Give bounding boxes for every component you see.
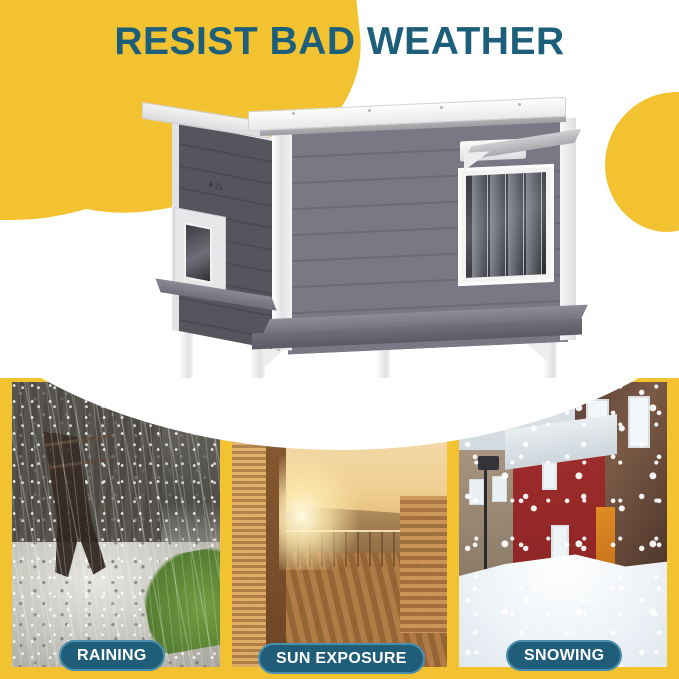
door-flap-strip	[472, 172, 488, 278]
label-sun-exposure[interactable]: SUN EXPOSURE	[258, 643, 425, 674]
label-snowing[interactable]: SNOWING	[506, 640, 622, 671]
cat-house-product: ▲ △	[140, 90, 580, 410]
door-flap-strip	[490, 172, 506, 278]
page-title: RESIST BAD WEATHER	[0, 22, 679, 63]
infographic-canvas: RESIST BAD WEATHER ▲ △	[0, 0, 679, 679]
door-opening	[466, 172, 546, 278]
door-flap-strip	[508, 172, 524, 278]
roof-screw	[292, 112, 295, 115]
roof-screw	[518, 103, 521, 106]
label-snowing-text: SNOWING	[524, 647, 604, 665]
weather-panels	[0, 378, 679, 679]
house-corner-post	[272, 121, 292, 350]
sun-balcony-right	[400, 496, 447, 633]
weather-panels-band	[0, 378, 679, 679]
side-window-glass	[184, 222, 212, 283]
roof-screw	[368, 109, 371, 112]
door-flap-strip	[526, 172, 542, 278]
roof-screw	[440, 106, 443, 109]
label-sun-exposure-text: SUN EXPOSURE	[276, 650, 407, 668]
sun-glare	[279, 450, 361, 570]
hero-product-image: ▲ △	[0, 80, 679, 410]
label-raining-text: RAINING	[77, 647, 147, 665]
label-raining[interactable]: RAINING	[59, 640, 165, 671]
